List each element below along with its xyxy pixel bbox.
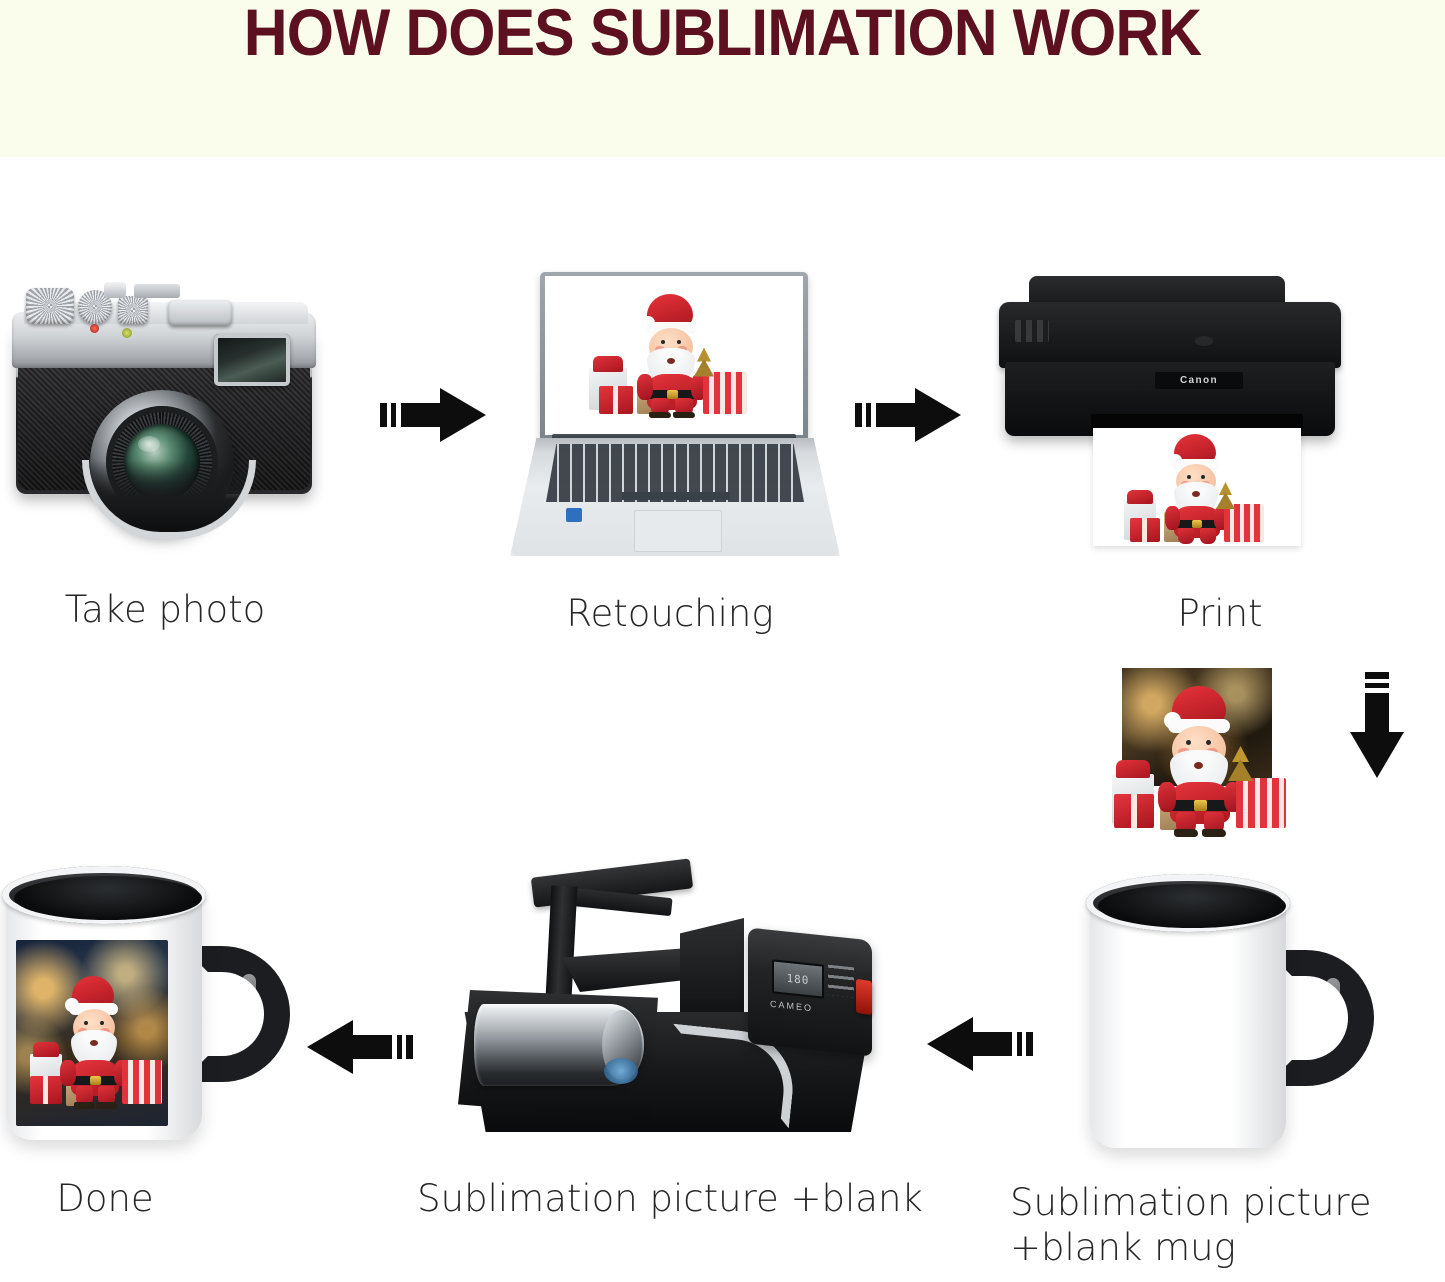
camera-icon: [8, 272, 328, 534]
arrow-right-laptop-to-printer: [855, 386, 963, 444]
printed-paper: [1093, 428, 1301, 546]
step-label-heat-press: Sublimation picture +blank: [350, 1176, 990, 1221]
step-label-take-photo: Take photo: [0, 587, 330, 632]
step-label-print: Print: [1070, 591, 1370, 636]
finished-mug-icon: [6, 866, 306, 1166]
blank-mug-icon: [1090, 874, 1390, 1164]
step-label-retouching: Retouching: [490, 591, 850, 636]
title-band: HOW DOES SUBLIMATION WORK: [0, 0, 1445, 157]
step-label-done: Done: [0, 1176, 210, 1221]
page-title: HOW DOES SUBLIMATION WORK: [58, 0, 1387, 70]
step-label-blank-mug: Sublimation picture +blank mug: [1010, 1180, 1445, 1270]
laptop-screen-artwork: [545, 276, 803, 435]
laptop-badge-sticker: [566, 508, 582, 522]
arrow-down-printer-to-sheet: [1348, 672, 1406, 780]
printer-icon: Canon: [995, 276, 1345, 476]
printed-photo-icon: [1096, 668, 1294, 848]
arrow-right-camera-to-laptop: [380, 386, 488, 444]
arrow-left-press-to-done: [305, 1018, 413, 1076]
mug-printed-artwork: [16, 940, 168, 1126]
press-power-switch[interactable]: [856, 979, 872, 1015]
press-temperature-display: 180: [772, 959, 824, 998]
infographic-canvas: HOW DOES SUBLIMATION WORK Take photo: [0, 0, 1445, 1282]
laptop-icon: [510, 272, 840, 562]
mug-heat-press-icon: 180 CAMEO: [452, 862, 872, 1144]
arrow-left-mug-to-press: [925, 1015, 1033, 1073]
printer-brand-logo: Canon: [1155, 372, 1243, 389]
